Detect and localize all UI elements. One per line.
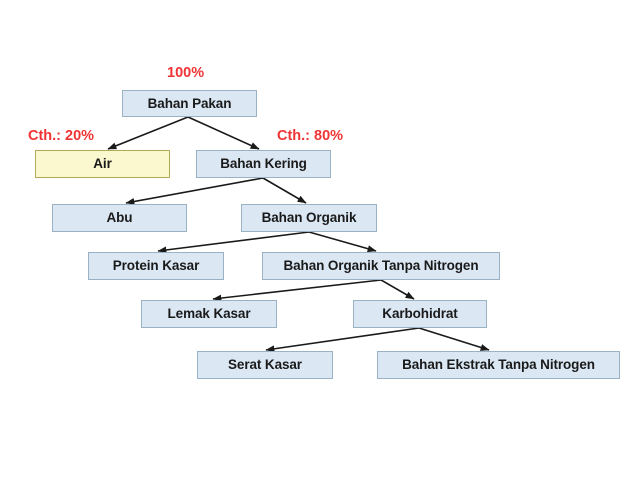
connector-layer [0, 0, 640, 480]
node-label: Karbohidrat [382, 307, 457, 321]
arrow-botn-to-lemak-kasar [213, 280, 381, 299]
node-label: Bahan Pakan [148, 97, 232, 111]
node-label: Abu [107, 211, 133, 225]
node-protein-kasar[interactable]: Protein Kasar [88, 252, 224, 280]
arrow-bahan-kering-to-abu [126, 178, 263, 203]
node-air[interactable]: Air [35, 150, 170, 178]
arrow-karbohidrat-to-serat-kasar [266, 328, 419, 350]
node-bahan-kering[interactable]: Bahan Kering [196, 150, 331, 178]
label-dry-matter-percent: Cth.: 80% [277, 129, 343, 144]
node-label: Bahan Ekstrak Tanpa Nitrogen [402, 358, 595, 372]
label-total-percent: 100% [167, 66, 204, 81]
node-label: Lemak Kasar [168, 307, 251, 321]
arrow-bahan-organik-to-protein-kasar [158, 232, 309, 251]
node-karbohidrat[interactable]: Karbohidrat [353, 300, 487, 328]
node-label: Air [93, 157, 111, 171]
arrow-bahan-pakan-to-air [108, 117, 188, 149]
node-label: Bahan Organik [262, 211, 357, 225]
node-bahan-organik[interactable]: Bahan Organik [241, 204, 377, 232]
node-label: Protein Kasar [113, 259, 199, 273]
arrow-bahan-kering-to-bahan-organik [263, 178, 306, 203]
diagram-canvas: Bahan PakanAirBahan KeringAbuBahan Organ… [0, 0, 640, 480]
node-label: Bahan Organik Tanpa Nitrogen [284, 259, 479, 273]
arrow-bahan-pakan-to-bahan-kering [188, 117, 259, 149]
node-abu[interactable]: Abu [52, 204, 187, 232]
node-label: Bahan Kering [220, 157, 307, 171]
arrow-karbohidrat-to-betn [419, 328, 489, 350]
arrow-botn-to-karbohidrat [381, 280, 414, 299]
node-serat-kasar[interactable]: Serat Kasar [197, 351, 333, 379]
node-bahan-ekstrak-tanpa-nitrogen[interactable]: Bahan Ekstrak Tanpa Nitrogen [377, 351, 620, 379]
label-water-percent: Cth.: 20% [28, 129, 94, 144]
arrow-bahan-organik-to-botn [309, 232, 376, 251]
node-lemak-kasar[interactable]: Lemak Kasar [141, 300, 277, 328]
node-bahan-pakan[interactable]: Bahan Pakan [122, 90, 257, 117]
node-label: Serat Kasar [228, 358, 302, 372]
node-bahan-organik-tanpa-nitrogen[interactable]: Bahan Organik Tanpa Nitrogen [262, 252, 500, 280]
